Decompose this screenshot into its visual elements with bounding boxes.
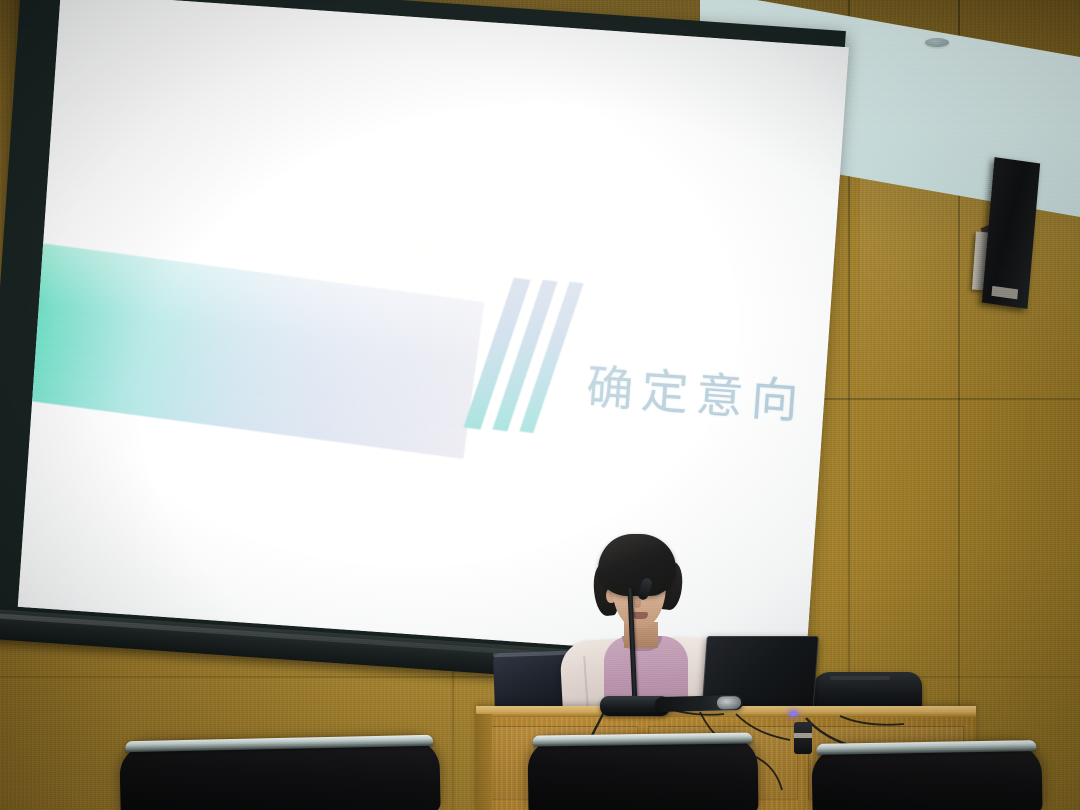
microphone-grille (717, 696, 741, 710)
slide-gradient-banner (18, 240, 484, 459)
chair-seatback (527, 736, 758, 810)
cable-adapter-box (794, 722, 812, 754)
bag-highlight (830, 676, 890, 680)
handheld-microphone (655, 695, 743, 712)
mouth (632, 612, 648, 619)
audience-chair-left (119, 739, 440, 810)
speaker-label-plate (991, 286, 1018, 300)
ceiling-fixture-icon (925, 38, 949, 47)
audience-chair-center (527, 736, 758, 810)
slide-title: 确定意向 (584, 348, 808, 432)
podium-side-edge (476, 714, 492, 810)
adapter-band (794, 733, 812, 738)
lecture-hall-photo: 确定意向 (0, 0, 1080, 810)
banner-sheen (18, 240, 484, 459)
laptop-status-led (790, 711, 797, 716)
hair (598, 534, 676, 596)
audience-chair-right (811, 744, 1042, 810)
